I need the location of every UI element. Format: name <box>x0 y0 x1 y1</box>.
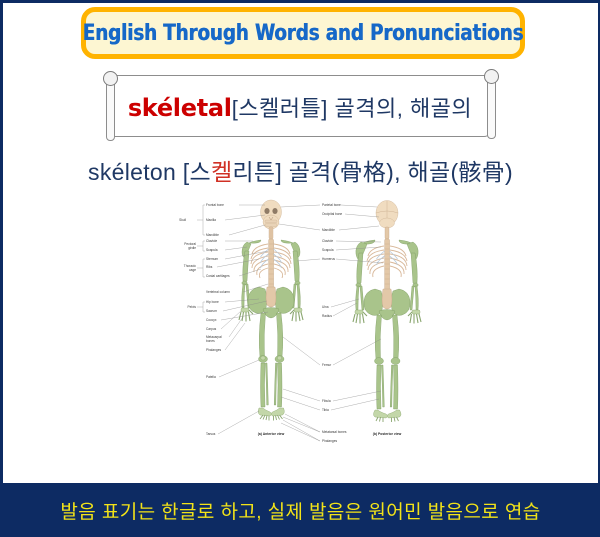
label-humerus: Humerus <box>322 257 335 261</box>
label-metatarsal-bones: Metatarsal bones <box>322 430 347 434</box>
caption-posterior: (b) Posterior view <box>373 432 402 436</box>
subline-highlight: 켈 <box>211 159 232 185</box>
label-costal-cartilages: Costal cartilages <box>206 274 230 278</box>
label-radius: Radius <box>322 314 332 318</box>
label-mandible-r: Mandible <box>322 228 335 232</box>
label-pectoral-girdle-2: girdle <box>188 246 196 250</box>
label-mandible-l: Mandible <box>206 233 219 237</box>
slide-page: English Through Words and Pronunciations… <box>0 0 600 537</box>
scroll-roll-right-icon <box>484 69 499 84</box>
label-skull: Skull <box>179 218 186 222</box>
label-vertebral-column: Vertebral column <box>206 290 230 294</box>
label-coccyx: Coccyx <box>206 318 217 322</box>
label-patella: Patella <box>206 375 216 379</box>
label-carpus: Carpus <box>206 327 217 331</box>
title-banner: English Through Words and Pronunciations <box>81 7 525 59</box>
label-sternum: Sternum <box>206 257 218 261</box>
label-maxilla: Maxilla <box>206 218 216 222</box>
subline: skéleton [스켈리튼] 골격(骨格), 해골(骸骨) <box>3 153 598 187</box>
bottom-bar: 발음 표기는 한글로 하고, 실제 발음은 원어민 발음으로 연습 <box>3 483 598 537</box>
label-metacarpal-bones-2: bones <box>206 339 215 343</box>
scroll-banner: skéletal[스켈러틀] 골격의, 해골의 <box>98 69 502 143</box>
label-ribs: Ribs <box>206 265 213 269</box>
label-clavicle-l: Clavicle <box>206 239 217 243</box>
label-frontal-bone: Frontal bone <box>206 203 224 207</box>
label-scapula-r: Scapula <box>322 248 334 252</box>
headline-word: skéletal <box>128 94 232 122</box>
label-pelvis: Pelvis <box>187 305 196 309</box>
label-femur: Femur <box>322 363 332 367</box>
bottom-bar-text: 발음 표기는 한글로 하고, 실제 발음은 원어민 발음으로 연습 <box>60 497 540 524</box>
label-tibia: Tibia <box>322 408 329 412</box>
skeleton-svg: .lbl{font-family:"Liberation Sans",sans-… <box>155 189 453 477</box>
label-phalanges-r: Phalanges <box>322 439 337 443</box>
scroll-roll-left-icon <box>103 71 118 86</box>
skeleton-diagram: .lbl{font-family:"Liberation Sans",sans-… <box>155 189 453 477</box>
label-thoracic-cage-2: cage <box>189 268 196 272</box>
label-fibula: Fibula <box>322 399 331 403</box>
caption-anterior: (a) Anterior view <box>258 432 285 436</box>
label-ulna: Ulna <box>322 305 329 309</box>
subline-part1: skéleton [스 <box>88 159 211 185</box>
headline-rest: [스켈러틀] 골격의, 해골의 <box>232 96 472 121</box>
label-occipital-bone: Occipital bone <box>322 212 342 216</box>
title-text: English Through Words and Pronunciations <box>83 21 524 46</box>
label-clavicle-r: Clavicle <box>322 239 333 243</box>
label-hip-bone: Hip bone <box>206 300 219 304</box>
label-tarsus: Tarsus <box>206 432 216 436</box>
label-sacrum: Sacrum <box>206 309 217 313</box>
headline: skéletal[스켈러틀] 골격의, 해골의 <box>98 91 502 123</box>
label-phalanges-l: Phalanges <box>206 348 221 352</box>
label-parietal-bone: Parietal bone <box>322 203 341 207</box>
subline-part2: 리튼] 골격(骨格), 해골(骸骨) <box>232 159 513 185</box>
label-scapula-l: Scapula <box>206 248 218 252</box>
